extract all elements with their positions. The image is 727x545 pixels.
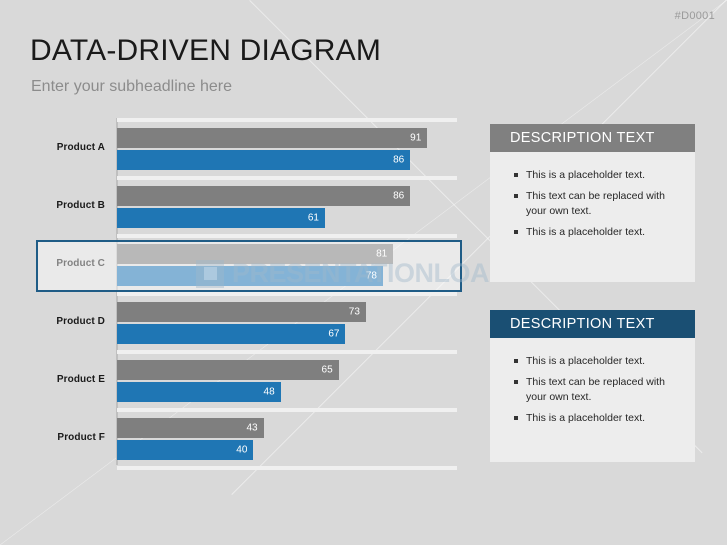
description-panel-1-body: This is a placeholder text. This text ca… <box>490 152 695 260</box>
bar-value-label: 81 <box>376 249 387 260</box>
slide-canvas: #D0001 DATA-DRIVEN DIAGRAM Enter your su… <box>0 0 727 545</box>
bar-value-label: 91 <box>410 133 421 144</box>
category-label: Product B <box>0 200 105 211</box>
bar-value-label: 40 <box>236 445 247 456</box>
bar-series-2[interactable]: 61 <box>117 208 325 228</box>
bar-series-1[interactable]: 91 <box>117 128 427 148</box>
category-label: Product D <box>0 316 105 327</box>
list-item: This is a placeholder text. <box>526 411 681 426</box>
chart-gridline <box>117 118 457 122</box>
bar-series-1[interactable]: 81 <box>117 244 393 264</box>
category-label: Product A <box>0 142 105 153</box>
chart-gridline <box>117 408 457 412</box>
bar-value-label: 78 <box>366 271 377 282</box>
bar-value-label: 65 <box>322 365 333 376</box>
category-label: Product E <box>0 374 105 385</box>
description-panel-2-bullet-list: This is a placeholder text. This text ca… <box>512 354 681 426</box>
bar-value-label: 43 <box>247 423 258 434</box>
chart-bar-group[interactable]: Product B8661 <box>0 184 470 232</box>
list-item: This text can be replaced with your own … <box>526 189 681 219</box>
chart-gridline <box>117 292 457 296</box>
chart-bar-group[interactable]: Product C8178 <box>0 242 470 290</box>
list-item: This is a placeholder text. <box>526 225 681 240</box>
horizontal-bar-chart[interactable]: Product A9186Product B8661Product C8178P… <box>0 118 470 466</box>
description-panel-2: DESCRIPTION TEXT This is a placeholder t… <box>490 310 695 462</box>
bar-series-2[interactable]: 48 <box>117 382 281 402</box>
bar-series-2[interactable]: 86 <box>117 150 410 170</box>
chart-bar-group[interactable]: Product E6548 <box>0 358 470 406</box>
description-panel-2-header: DESCRIPTION TEXT <box>490 310 695 338</box>
bar-series-1[interactable]: 73 <box>117 302 366 322</box>
list-item: This is a placeholder text. <box>526 168 681 183</box>
bar-series-2[interactable]: 40 <box>117 440 253 460</box>
list-item: This text can be replaced with your own … <box>526 375 681 405</box>
document-id: #D0001 <box>675 10 715 22</box>
bar-value-label: 73 <box>349 307 360 318</box>
description-panel-1-bullet-list: This is a placeholder text. This text ca… <box>512 168 681 240</box>
bar-series-2[interactable]: 78 <box>117 266 383 286</box>
bar-value-label: 86 <box>393 191 404 202</box>
chart-gridline <box>117 234 457 238</box>
page-title: DATA-DRIVEN DIAGRAM <box>30 34 381 68</box>
bar-value-label: 48 <box>264 387 275 398</box>
description-panel-1: DESCRIPTION TEXT This is a placeholder t… <box>490 124 695 282</box>
list-item: This is a placeholder text. <box>526 354 681 369</box>
bar-value-label: 86 <box>393 155 404 166</box>
bar-value-label: 67 <box>328 329 339 340</box>
bar-series-1[interactable]: 65 <box>117 360 339 380</box>
bar-series-1[interactable]: 86 <box>117 186 410 206</box>
chart-bar-group[interactable]: Product F4340 <box>0 416 470 464</box>
bar-value-label: 61 <box>308 213 319 224</box>
category-label: Product C <box>0 258 105 269</box>
description-panel-2-body: This is a placeholder text. This text ca… <box>490 338 695 446</box>
chart-gridline <box>117 350 457 354</box>
chart-bar-group[interactable]: Product A9186 <box>0 126 470 174</box>
page-subtitle: Enter your subheadline here <box>31 78 232 96</box>
description-panel-1-header: DESCRIPTION TEXT <box>490 124 695 152</box>
chart-gridline <box>117 176 457 180</box>
category-label: Product F <box>0 432 105 443</box>
bar-series-2[interactable]: 67 <box>117 324 345 344</box>
bar-series-1[interactable]: 43 <box>117 418 264 438</box>
chart-bar-group[interactable]: Product D7367 <box>0 300 470 348</box>
chart-gridline <box>117 466 457 470</box>
